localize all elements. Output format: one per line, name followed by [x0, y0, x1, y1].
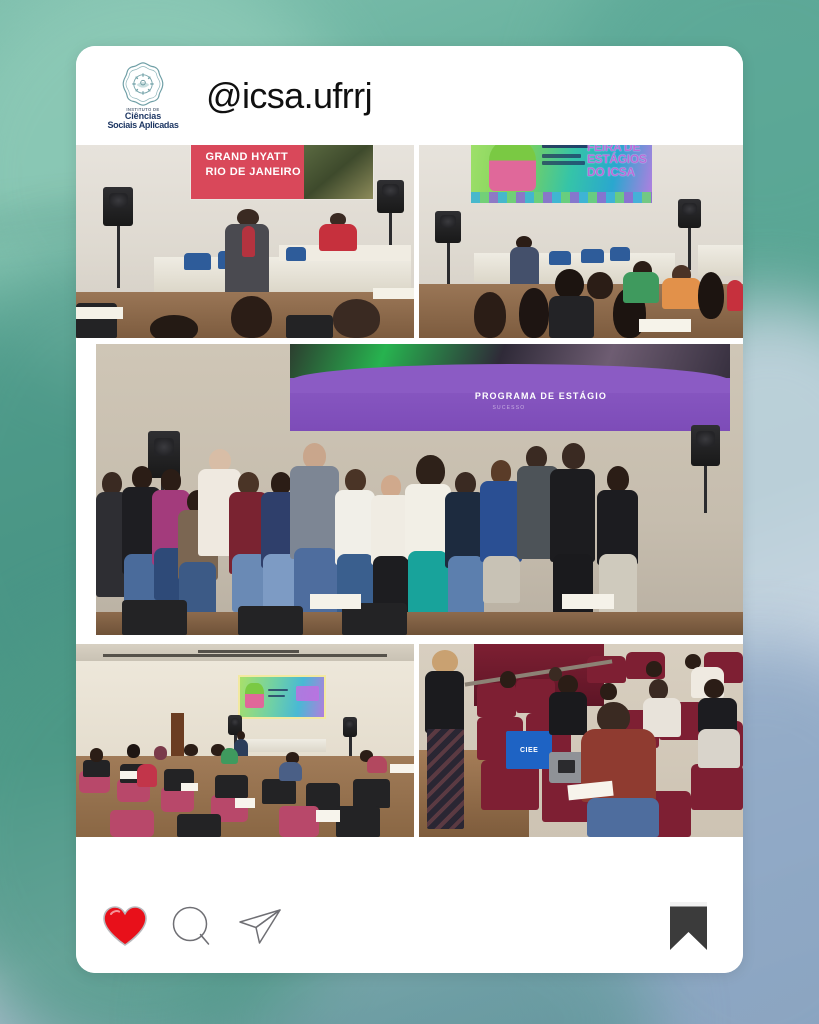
- slide-text: FEIRA DE ESTÁGIOS DO ICSA: [587, 145, 645, 178]
- primary-actions: [102, 905, 284, 947]
- bookmark-icon[interactable]: [666, 899, 711, 953]
- post-action-bar: [76, 879, 743, 973]
- projection-slide-programa-estagio: PROGRAMA DE ESTÁGIO SUCESSO: [290, 344, 730, 431]
- projection-slide-feira-mini: [238, 675, 326, 719]
- secondary-actions: [666, 899, 711, 953]
- icsa-emblem-icon: [120, 61, 166, 107]
- share-paper-plane-icon[interactable]: [236, 905, 284, 947]
- avatar-caption: INSTITUTO DE Ciências Sociais Aplicadas: [107, 108, 178, 131]
- photo-collage: GRAND HYATT RIO DE JANEIRO: [76, 145, 743, 879]
- post-header: INSTITUTO DE Ciências Sociais Aplicadas …: [76, 46, 743, 145]
- ciee-bag-label: CIEE: [520, 747, 538, 754]
- slide-text: PROGRAMA DE ESTÁGIO: [475, 391, 607, 401]
- collage-photo-top-left[interactable]: GRAND HYATT RIO DE JANEIRO: [76, 145, 414, 338]
- avatar-caption-line2: Sociais Aplicadas: [107, 121, 178, 130]
- comment-icon[interactable]: [170, 905, 214, 947]
- slide-subtext: SUCESSO: [492, 405, 525, 411]
- avatar[interactable]: INSTITUTO DE Ciências Sociais Aplicadas: [104, 57, 182, 135]
- heart-icon[interactable]: [102, 905, 148, 947]
- collage-photo-middle[interactable]: PROGRAMA DE ESTÁGIO SUCESSO: [96, 344, 743, 635]
- collage-photo-top-right[interactable]: FEIRA DE ESTÁGIOS DO ICSA: [419, 145, 743, 338]
- ciee-tote-bag: CIEE: [506, 731, 551, 770]
- social-post-card: INSTITUTO DE Ciências Sociais Aplicadas …: [76, 46, 743, 973]
- account-handle[interactable]: @icsa.ufrrj: [206, 75, 372, 117]
- collage-photo-bottom-right[interactable]: CIEE: [419, 644, 743, 837]
- slide-text: GRAND HYATT RIO DE JANEIRO: [206, 150, 308, 180]
- collage-photo-bottom-left[interactable]: [76, 644, 414, 837]
- projection-slide-feira-estagios: FEIRA DE ESTÁGIOS DO ICSA: [471, 145, 652, 203]
- projection-slide-grand-hyatt: GRAND HYATT RIO DE JANEIRO: [191, 145, 374, 199]
